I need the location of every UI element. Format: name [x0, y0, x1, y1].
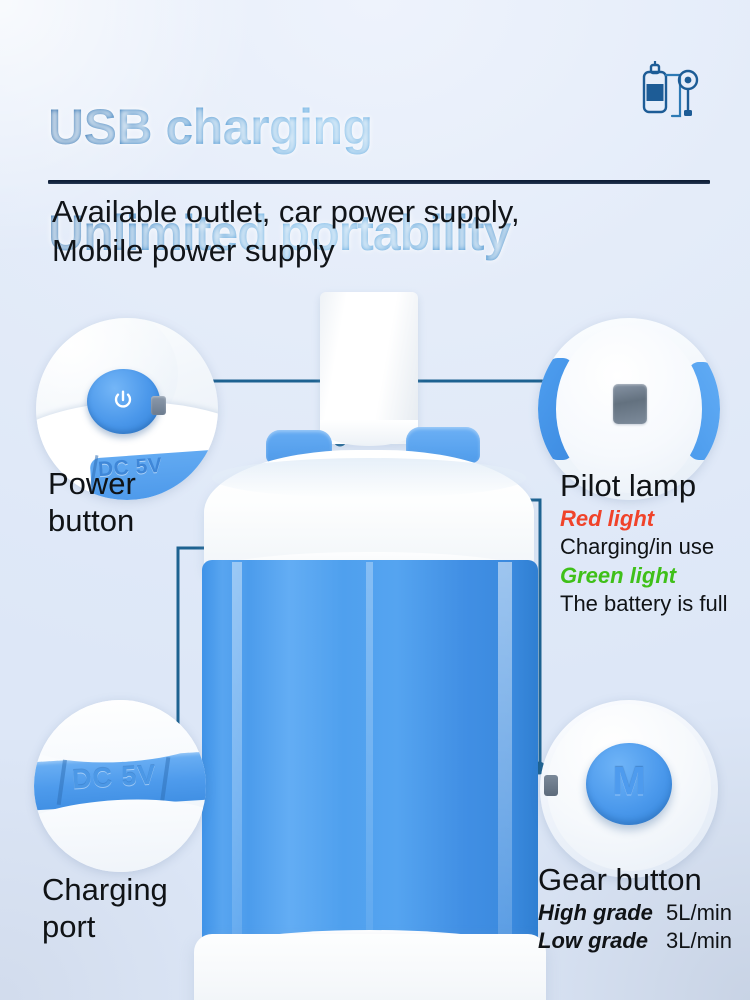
product-base: [194, 934, 546, 1000]
power-label-line-2: button: [48, 503, 136, 540]
power-bubble-indicator-led: [151, 396, 166, 415]
gear-button-m-label: M: [612, 760, 645, 805]
pilot-red-light-desc: Charging/in use: [560, 533, 728, 562]
callout-bubble-gear-button: M: [540, 700, 718, 878]
charging-port-dc-label: DC 5V: [71, 759, 157, 795]
callout-bubble-charging-port: DC 5V: [34, 700, 206, 872]
pilot-red-light-label: Red light: [560, 505, 728, 534]
label-pilot-lamp: Pilot lamp Red light Charging/in use Gre…: [560, 468, 728, 619]
power-symbol-icon: [112, 389, 134, 411]
pilot-green-light-desc: The battery is full: [560, 590, 728, 619]
infographic-page: USB charging Unlimited portability Avail…: [0, 0, 750, 1000]
gear-grade-value: 3L/min: [666, 927, 732, 956]
gear-grade-name: High grade: [538, 899, 656, 928]
charging-label-line-2: port: [42, 909, 168, 946]
gear-grade-value: 5L/min: [666, 899, 732, 928]
label-gear-button: Gear button High grade 5L/min Low grade …: [538, 862, 732, 956]
gear-grade-name: Low grade: [538, 927, 656, 956]
gear-grade-row: Low grade 3L/min: [538, 927, 732, 956]
product-cap-lip: [212, 458, 526, 498]
product-image: [170, 270, 580, 970]
label-charging-port: Charging port: [42, 872, 168, 945]
pilot-lamp-led: [613, 384, 648, 424]
power-button-physical[interactable]: [87, 369, 160, 435]
charging-label-line-1: Charging: [42, 872, 168, 909]
gear-grade-row: High grade 5L/min: [538, 899, 732, 928]
pilot-green-light-label: Green light: [560, 562, 728, 591]
product-body-highlight-1: [232, 562, 242, 942]
product-body-highlight-2: [366, 562, 373, 942]
pilot-label-title: Pilot lamp: [560, 468, 728, 505]
power-label-line-1: Power: [48, 466, 136, 503]
gear-bubble-port: [544, 775, 558, 796]
gear-button-physical[interactable]: M: [586, 743, 671, 825]
label-power-button: Power button: [48, 466, 136, 539]
gear-label-title: Gear button: [538, 862, 732, 899]
product-body-highlight-3: [498, 562, 512, 942]
